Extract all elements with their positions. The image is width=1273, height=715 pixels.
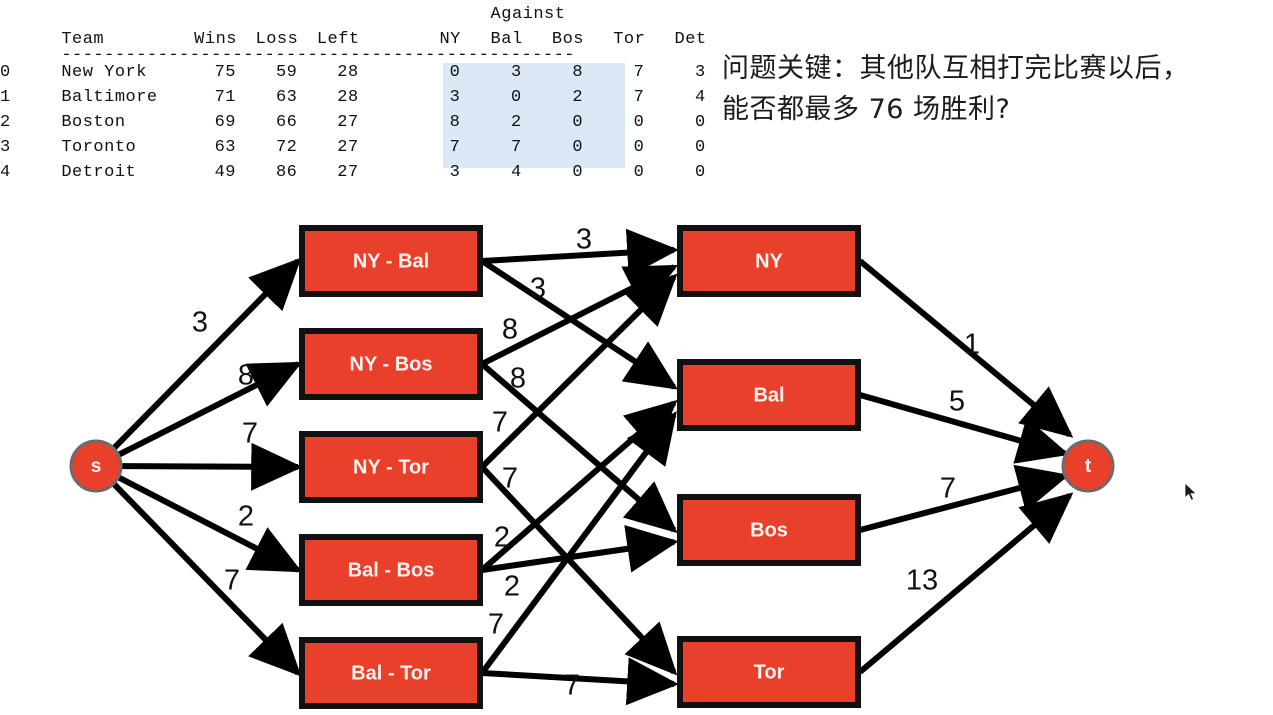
flow-network-svg: NY - BalNY - BosNY - TorBal - BosBal - T… — [0, 200, 1273, 715]
row-against-cell: 0 — [634, 113, 645, 132]
edge-source-to-ny-tor — [121, 466, 298, 467]
row-index: 3 — [0, 138, 11, 157]
row-against-cell: 0 — [695, 113, 706, 132]
game-node-ny-bal[interactable]: NY - Bal — [302, 228, 480, 294]
row-against-cell: 4 — [511, 163, 522, 182]
col-header-against-det: Det — [675, 30, 707, 49]
row-against-cell: 4 — [695, 88, 706, 107]
row-against-cell: 0 — [572, 113, 583, 132]
row-team-name: New York — [61, 63, 147, 82]
row-against-cell: 0 — [572, 163, 583, 182]
row-team-name: Baltimore — [61, 88, 157, 107]
row-against-cell: 7 — [511, 138, 522, 157]
row-loss: 63 — [276, 88, 297, 107]
row-against-cell: 0 — [695, 138, 706, 157]
edges-layer — [114, 250, 1070, 684]
team-node-tor-label: Tor — [754, 661, 785, 683]
edge-label-ny-bal-ny: 3 — [576, 224, 592, 256]
row-against-cell: 0 — [511, 88, 522, 107]
source-node[interactable]: s — [71, 441, 121, 491]
game-node-bal-bos[interactable]: Bal - Bos — [302, 537, 480, 603]
edge-label-ny-bos-bos: 8 — [510, 363, 526, 395]
row-wins: 75 — [215, 63, 236, 82]
game-node-ny-tor[interactable]: NY - Tor — [302, 434, 480, 500]
row-against-cell: 7 — [634, 63, 645, 82]
edge-label-bos-sink: 7 — [940, 473, 956, 505]
row-against-cell: 0 — [634, 138, 645, 157]
mouse-cursor — [1184, 482, 1200, 502]
edge-label-bal-tor-tor: 7 — [564, 670, 580, 702]
edge-label-ny-bal-bal: 3 — [530, 273, 546, 305]
question-note: 问题关键：其他队互相打完比赛以后， 能否都最多 76 场胜利? — [722, 48, 1267, 130]
game-node-bal-tor-label: Bal - Tor — [351, 662, 431, 684]
edge-label-source-ny-bal: 3 — [192, 307, 208, 339]
standings-table: AgainstTeamWinsLossLeftNYBalBosTorDet---… — [0, 0, 700, 200]
edge-label-bal-sink: 5 — [949, 386, 965, 418]
edge-label-source-bal-bos: 2 — [238, 501, 254, 533]
row-loss: 72 — [276, 138, 297, 157]
row-against-cell: 7 — [634, 88, 645, 107]
row-wins: 71 — [215, 88, 236, 107]
source-node-label: s — [91, 456, 102, 477]
row-against-cell: 3 — [450, 88, 461, 107]
game-node-ny-bos[interactable]: NY - Bos — [302, 331, 480, 397]
standings-text-layer: AgainstTeamWinsLossLeftNYBalBosTorDet---… — [0, 0, 700, 200]
row-team-name: Detroit — [61, 163, 136, 182]
row-left: 28 — [337, 63, 358, 82]
col-header-against-tor: Tor — [613, 30, 645, 49]
edge-label-source-ny-bos: 8 — [238, 360, 254, 392]
note-line-1: 问题关键：其他队互相打完比赛以后， — [722, 48, 1267, 89]
team-node-ny-label: NY — [755, 250, 783, 272]
edge-source-to-ny-bal — [114, 261, 298, 448]
row-against-cell: 2 — [572, 88, 583, 107]
row-against-cell: 3 — [695, 63, 706, 82]
against-header: Against — [491, 5, 566, 24]
row-index: 4 — [0, 163, 11, 182]
row-index: 0 — [0, 63, 11, 82]
game-node-ny-bos-label: NY - Bos — [350, 353, 433, 375]
edge-label-ny-tor-ny: 7 — [492, 407, 508, 439]
row-against-cell: 0 — [450, 63, 461, 82]
row-against-cell: 7 — [450, 138, 461, 157]
edge-label-tor-sink: 13 — [906, 565, 938, 597]
edge-source-to-bal-bos — [118, 477, 298, 570]
row-wins: 69 — [215, 113, 236, 132]
row-against-cell: 3 — [511, 63, 522, 82]
edge-label-bal-bos-bal: 2 — [494, 522, 510, 554]
edge-label-bal-bos-bos: 2 — [504, 571, 520, 603]
row-loss: 59 — [276, 63, 297, 82]
row-against-cell: 0 — [634, 163, 645, 182]
edge-source-to-ny-bos — [118, 364, 298, 455]
edge-label-ny-bos-ny: 8 — [502, 314, 518, 346]
row-left: 28 — [337, 88, 358, 107]
team-node-bos-label: Bos — [750, 519, 788, 541]
team-node-bal-label: Bal — [753, 384, 784, 406]
flow-network-diagram: NY - BalNY - BosNY - TorBal - BosBal - T… — [0, 200, 1273, 715]
note-line-2: 能否都最多 76 场胜利? — [722, 89, 1267, 130]
row-against-cell: 0 — [572, 138, 583, 157]
row-index: 1 — [0, 88, 11, 107]
row-left: 27 — [337, 113, 358, 132]
row-against-cell: 0 — [695, 163, 706, 182]
row-against-cell: 8 — [450, 113, 461, 132]
edge-label-source-ny-tor: 7 — [242, 418, 258, 450]
row-against-cell: 3 — [450, 163, 461, 182]
row-left: 27 — [337, 138, 358, 157]
team-node-bos[interactable]: Bos — [680, 497, 858, 563]
team-node-ny[interactable]: NY — [680, 228, 858, 294]
edge-label-ny-sink: 1 — [964, 329, 980, 361]
sink-node[interactable]: t — [1063, 441, 1113, 491]
row-loss: 66 — [276, 113, 297, 132]
row-wins: 63 — [215, 138, 236, 157]
row-loss: 86 — [276, 163, 297, 182]
game-node-ny-bal-label: NY - Bal — [353, 250, 429, 272]
row-left: 27 — [337, 163, 358, 182]
edge-label-bal-tor-bal: 7 — [488, 609, 504, 641]
team-node-bal[interactable]: Bal — [680, 362, 858, 428]
edge-source-to-bal-tor — [114, 484, 298, 673]
row-team-name: Boston — [61, 113, 125, 132]
row-against-cell: 2 — [511, 113, 522, 132]
edge-label-ny-tor-tor: 7 — [502, 463, 518, 495]
game-node-bal-bos-label: Bal - Bos — [348, 559, 435, 581]
edge-ny-tor-to-tor — [482, 467, 674, 672]
edge-label-source-bal-tor: 7 — [224, 565, 240, 597]
row-against-cell: 8 — [572, 63, 583, 82]
game-node-bal-tor[interactable]: Bal - Tor — [302, 640, 480, 706]
slide-root: AgainstTeamWinsLossLeftNYBalBosTorDet---… — [0, 0, 1273, 715]
row-team-name: Toronto — [61, 138, 136, 157]
sink-node-label: t — [1085, 456, 1092, 477]
team-node-tor[interactable]: Tor — [680, 639, 858, 705]
row-index: 2 — [0, 113, 11, 132]
game-node-ny-tor-label: NY - Tor — [353, 456, 429, 478]
row-wins: 49 — [215, 163, 236, 182]
